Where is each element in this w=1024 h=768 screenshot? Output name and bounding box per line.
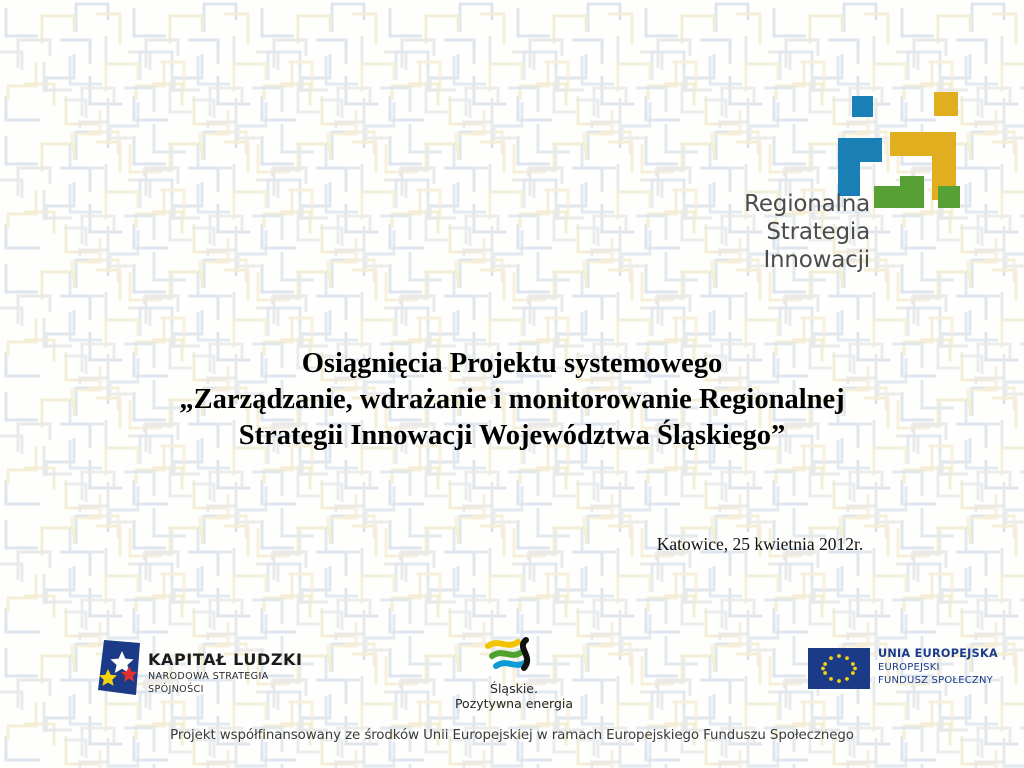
title-line-2: „Zarządzanie, wdrażanie i monitorowanie …: [62, 382, 962, 418]
ue-title: UNIA EUROPEJSKA: [878, 646, 998, 661]
rsi-logo: Regionalna Strategia Innowacji: [740, 92, 960, 287]
slaskie-waves-icon: [444, 636, 584, 674]
slide-title: Osiągnięcia Projektu systemowego „Zarząd…: [62, 346, 962, 454]
ue-subtitle-2: FUNDUSZ SPOŁECZNY: [878, 674, 998, 687]
kapital-ludzki-emblem-icon: [96, 640, 140, 698]
title-line-1: Osiągnięcia Projektu systemowego: [62, 346, 962, 382]
rsi-word-line-3: Innowacji: [740, 246, 870, 274]
slaskie-tagline: Pozytywna energia: [444, 696, 584, 711]
presentation-slide: Regionalna Strategia Innowacji Osiągnięc…: [0, 0, 1024, 768]
rsi-logo-wordmark: Regionalna Strategia Innowacji: [740, 190, 870, 274]
slaskie-logo: Śląskie. Pozytywna energia: [444, 636, 584, 708]
eu-flag-icon: [808, 648, 870, 689]
kapital-ludzki-text: KAPITAŁ LUDZKI NARODOWA STRATEGIA SPÓJNO…: [148, 650, 326, 696]
kapital-ludzki-subtitle: NARODOWA STRATEGIA SPÓJNOŚCI: [148, 670, 326, 696]
title-line-3: Strategii Innowacji Województwa Śląskieg…: [62, 418, 962, 454]
slide-date: Katowice, 25 kwietnia 2012r.: [560, 534, 960, 555]
unia-europejska-text: UNIA EUROPEJSKA EUROPEJSKI FUNDUSZ SPOŁE…: [878, 646, 998, 687]
kapital-ludzki-logo: KAPITAŁ LUDZKI NARODOWA STRATEGIA SPÓJNO…: [96, 640, 326, 702]
kapital-ludzki-title: KAPITAŁ LUDZKI: [148, 650, 326, 669]
ue-subtitle-1: EUROPEJSKI: [878, 661, 998, 674]
footer-funding-note: Projekt współfinansowany ze środków Unii…: [0, 728, 1024, 743]
slaskie-name: Śląskie.: [444, 681, 584, 696]
unia-europejska-logo: UNIA EUROPEJSKA EUROPEJSKI FUNDUSZ SPOŁE…: [808, 646, 1008, 696]
rsi-word-line-1: Regionalna: [740, 190, 870, 218]
rsi-word-line-2: Strategia: [740, 218, 870, 246]
